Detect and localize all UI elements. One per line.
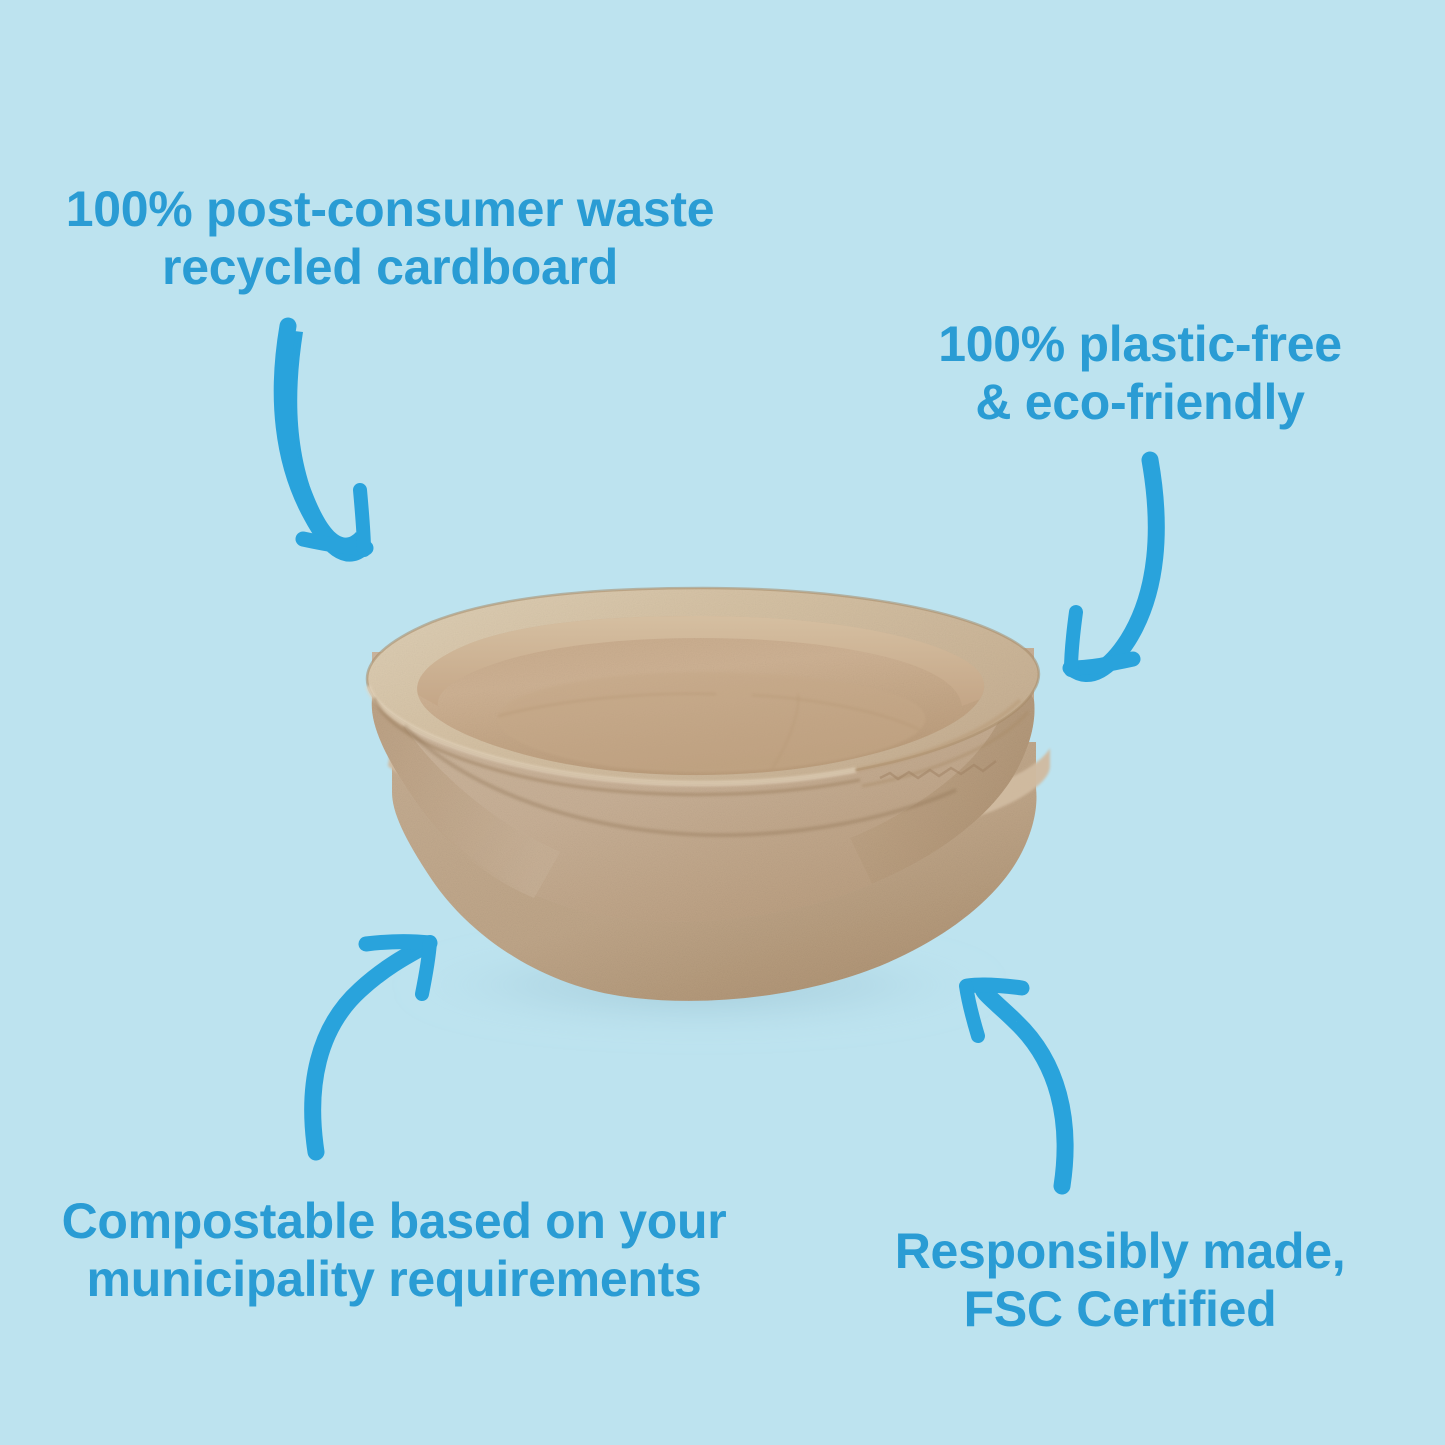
infographic-canvas: 100% post-consumer waste recycled cardbo… — [0, 0, 1445, 1445]
callout-compostable: Compostable based on your municipality r… — [38, 1192, 750, 1308]
callout-fsc-certified: Responsibly made, FSC Certified — [850, 1222, 1390, 1338]
callout-post-consumer-waste: 100% post-consumer waste recycled cardbo… — [40, 180, 740, 296]
callout-plastic-free: 100% plastic-free & eco-friendly — [880, 315, 1400, 431]
